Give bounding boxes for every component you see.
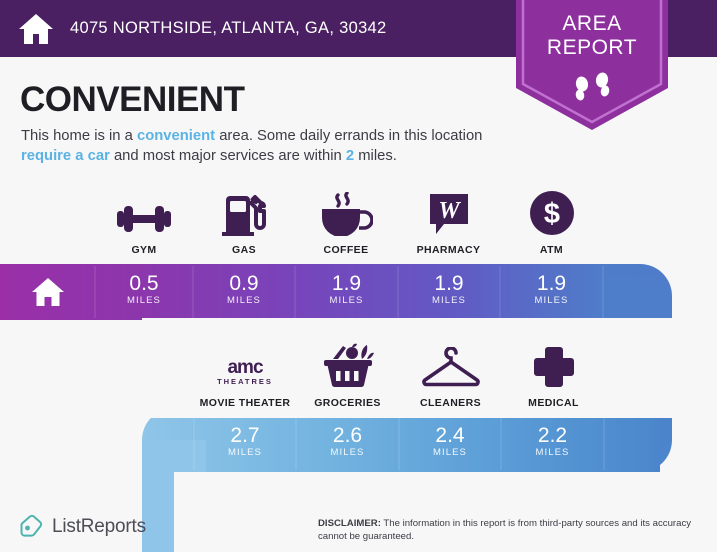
disclaimer-label: DISCLAIMER: xyxy=(318,518,381,529)
badge-line-2: REPORT xyxy=(516,36,668,60)
badge-label: AREA REPORT xyxy=(516,12,668,60)
distance-unit: MILES xyxy=(193,295,295,306)
distance-cell-atm: 1.9 MILES xyxy=(500,272,603,306)
distance-cell-gym: 0.5 MILES xyxy=(95,272,193,306)
distance-cell-movie-theater: 2.7 MILES xyxy=(194,424,296,458)
grocery-basket-icon xyxy=(321,343,375,389)
distance-cell-cleaners: 2.4 MILES xyxy=(399,424,501,458)
disclaimer-text: DISCLAIMER: The information in this repo… xyxy=(318,518,700,543)
category-groceries[interactable]: GROCERIES xyxy=(296,345,399,409)
category-label: GROCERIES xyxy=(314,397,381,409)
clothes-hanger-icon xyxy=(420,345,482,389)
category-atm[interactable]: $ ATM xyxy=(500,192,603,256)
secondary-icon-row: amc THEATRES MOVIE THEATER xyxy=(194,345,706,409)
area-report-infographic: 4075 NORTHSIDE, ATLANTA, GA, 30342 AREA … xyxy=(0,0,717,552)
primary-icon-row: GYM GAS xyxy=(95,192,703,256)
home-icon xyxy=(31,277,65,308)
svg-text:$: $ xyxy=(543,198,559,230)
home-marker-cell xyxy=(0,264,95,320)
svg-text:W: W xyxy=(438,198,461,224)
category-gym[interactable]: GYM xyxy=(95,192,193,256)
distance-unit: MILES xyxy=(95,295,193,306)
category-coffee[interactable]: COFFEE xyxy=(295,192,397,256)
category-movie-theater[interactable]: amc THEATRES MOVIE THEATER xyxy=(194,345,296,409)
distance-cell-pharmacy: 1.9 MILES xyxy=(398,272,500,306)
home-icon xyxy=(18,12,54,46)
category-label: MOVIE THEATER xyxy=(200,397,291,409)
category-label: CLEANERS xyxy=(420,397,481,409)
distance-value: 2.7 xyxy=(194,424,296,447)
distance-cell-groceries: 2.6 MILES xyxy=(296,424,399,458)
amc-theatres-icon: amc THEATRES xyxy=(212,345,278,389)
listreports-logo[interactable]: ListReports xyxy=(18,514,146,539)
distance-value: 1.9 xyxy=(398,272,500,295)
distance-unit: MILES xyxy=(295,295,398,306)
distance-cell-gas: 0.9 MILES xyxy=(193,272,295,306)
category-label: MEDICAL xyxy=(528,397,579,409)
distance-value: 1.9 xyxy=(500,272,603,295)
distance-value: 0.9 xyxy=(193,272,295,295)
distance-unit: MILES xyxy=(501,447,604,458)
property-address: 4075 NORTHSIDE, ATLANTA, GA, 30342 xyxy=(70,19,387,38)
category-label: PHARMACY xyxy=(417,244,481,256)
distance-unit: MILES xyxy=(399,447,501,458)
dumbbell-icon xyxy=(114,192,174,236)
listreports-pentagon-icon xyxy=(18,514,43,539)
category-gas[interactable]: GAS xyxy=(193,192,295,256)
badge-line-1: AREA xyxy=(516,12,668,36)
distance-unit: MILES xyxy=(398,295,500,306)
dollar-circle-icon: $ xyxy=(529,190,575,236)
coffee-cup-icon xyxy=(319,192,373,236)
distance-value: 0.5 xyxy=(95,272,193,295)
distance-value: 1.9 xyxy=(295,272,398,295)
distance-value: 2.2 xyxy=(501,424,604,447)
svg-text:THEATRES: THEATRES xyxy=(217,377,273,386)
distance-unit: MILES xyxy=(500,295,603,306)
walgreens-w-icon: W xyxy=(428,192,470,236)
category-pharmacy[interactable]: W PHARMACY xyxy=(397,192,500,256)
area-report-badge: AREA REPORT xyxy=(516,0,668,130)
listreports-wordmark: ListReports xyxy=(52,516,146,538)
gas-pump-icon xyxy=(222,192,266,236)
medical-cross-icon xyxy=(532,345,576,389)
distance-value: 2.6 xyxy=(296,424,399,447)
category-cleaners[interactable]: CLEANERS xyxy=(399,345,502,409)
svg-text:amc: amc xyxy=(227,357,263,378)
distance-unit: MILES xyxy=(194,447,296,458)
distance-cell-medical: 2.2 MILES xyxy=(501,424,604,458)
category-label: GAS xyxy=(232,244,256,256)
distance-unit: MILES xyxy=(296,447,399,458)
category-label: GYM xyxy=(131,244,156,256)
category-medical[interactable]: MEDICAL xyxy=(502,345,605,409)
distance-cell-coffee: 1.9 MILES xyxy=(295,272,398,306)
category-label: ATM xyxy=(540,244,563,256)
distance-value: 2.4 xyxy=(399,424,501,447)
category-label: COFFEE xyxy=(324,244,369,256)
